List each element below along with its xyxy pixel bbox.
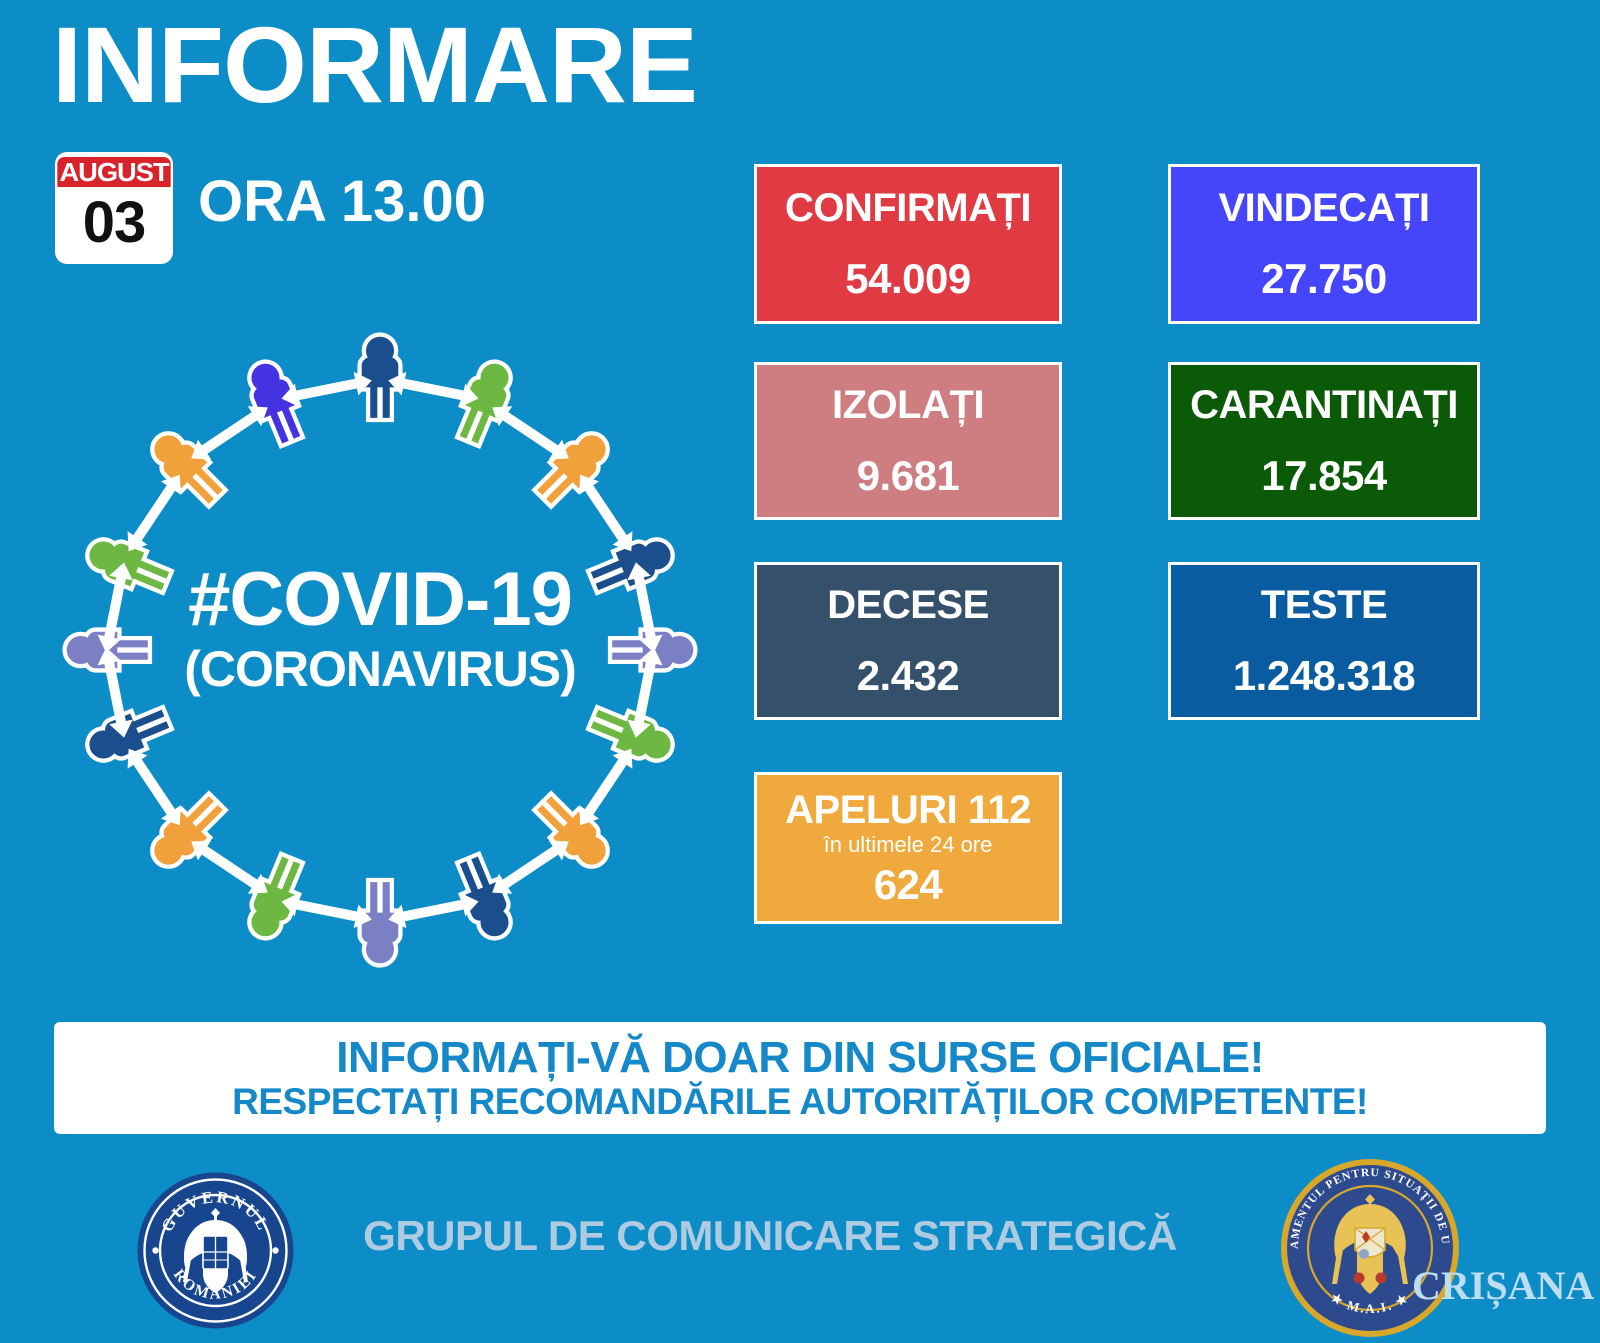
stat-value-izolati: 9.681	[857, 454, 960, 498]
guvernul-romaniei-seal-icon: GUVERNUL ROMÂNIEI	[137, 1172, 294, 1329]
stat-value-apeluri: 624	[874, 863, 943, 907]
stat-card-izolati: IZOLAȚI 9.681	[754, 362, 1062, 520]
stat-value-confirmati: 54.009	[845, 257, 970, 301]
dsu-emblem-icon: DEPARTAMENTUL PENTRU SITUAȚII DE URGENȚĂ…	[1280, 1158, 1460, 1338]
calendar-month-label: AUGUST	[57, 157, 170, 187]
stat-label-confirmati: CONFIRMAȚI	[785, 187, 1031, 229]
stat-sublabel-apeluri: în ultimele 24 ore	[824, 833, 993, 857]
stat-card-apeluri: APELURI 112 în ultimele 24 ore 624	[754, 772, 1062, 924]
stat-value-carantinati: 17.854	[1261, 454, 1386, 498]
stat-card-teste: TESTE 1.248.318	[1168, 562, 1480, 720]
stat-label-apeluri: APELURI 112	[785, 789, 1031, 831]
stat-label-teste: TESTE	[1261, 584, 1387, 626]
calendar-day-label: 03	[60, 187, 168, 259]
official-sources-banner: INFORMAȚI-VĂ DOAR DIN SURSE OFICIALE! RE…	[54, 1022, 1546, 1134]
stat-card-vindecati: VINDECAȚI 27.750	[1168, 164, 1480, 324]
stat-card-decese: DECESE 2.432	[754, 562, 1062, 720]
stat-card-confirmati: CONFIRMAȚI 54.009	[754, 164, 1062, 324]
stat-label-decese: DECESE	[827, 584, 989, 626]
banner-line-1: INFORMAȚI-VĂ DOAR DIN SURSE OFICIALE!	[336, 1034, 1263, 1082]
stat-label-vindecati: VINDECAȚI	[1218, 187, 1429, 229]
footer-organization-label: GRUPUL DE COMUNICARE STRATEGICĂ	[330, 1212, 1210, 1260]
stat-label-izolati: IZOLAȚI	[832, 384, 984, 426]
calendar-icon: AUGUST 03	[55, 152, 173, 264]
page-title: INFORMARE	[52, 8, 697, 121]
stat-value-teste: 1.248.318	[1233, 654, 1415, 698]
banner-line-2: RESPECTAȚI RECOMANDĂRILE AUTORITĂȚILOR C…	[232, 1081, 1368, 1122]
stat-value-vindecati: 27.750	[1261, 257, 1386, 301]
hour-label: ORA 13.00	[198, 168, 486, 235]
crisana-watermark: CRIȘANA	[1412, 1262, 1594, 1309]
people-distancing-circle-icon: #COVID-19 (CORONAVIRUS)	[60, 330, 700, 970]
stat-value-decese: 2.432	[857, 654, 960, 698]
stat-label-carantinati: CARANTINAȚI	[1190, 384, 1458, 426]
stat-card-carantinati: CARANTINAȚI 17.854	[1168, 362, 1480, 520]
